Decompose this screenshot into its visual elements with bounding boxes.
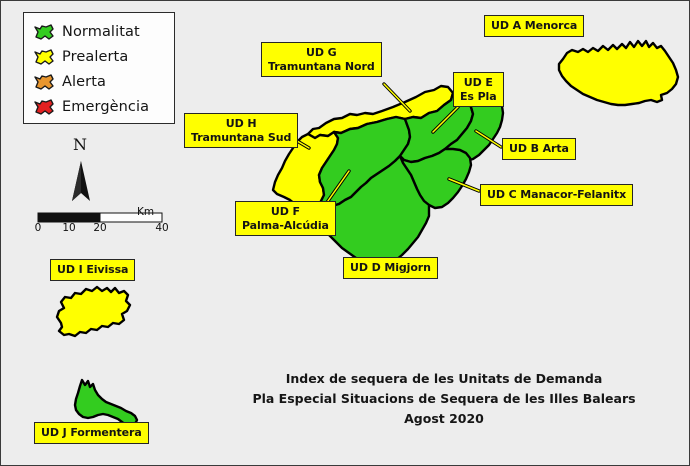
scale-tick-20: 20 bbox=[93, 222, 106, 234]
legend-item-prealerta[interactable]: Prealerta bbox=[32, 44, 174, 69]
label-text-tramuntana-sud-2: Tramuntana Sud bbox=[191, 131, 291, 144]
label-ud-b-arta[interactable]: UD B Arta bbox=[502, 138, 576, 160]
legend-swatch-normalitat bbox=[32, 23, 56, 41]
legend-box: Normalitat Prealerta Alerta Emergència bbox=[23, 12, 175, 124]
legend-swatch-alerta bbox=[32, 73, 56, 91]
legend-label-prealerta: Prealerta bbox=[62, 49, 128, 65]
label-text-palma-1: UD F bbox=[271, 205, 300, 218]
label-text-tramuntana-nord-2: Tramuntana Nord bbox=[268, 60, 375, 73]
north-arrow-label: N bbox=[73, 135, 87, 154]
label-ud-a-menorca[interactable]: UD A Menorca bbox=[484, 15, 584, 37]
label-text-es-pla-1: UD E bbox=[464, 76, 493, 89]
label-ud-e-es-pla[interactable]: UD E Es Pla bbox=[453, 72, 504, 107]
label-text-tramuntana-nord-1: UD G bbox=[306, 46, 337, 59]
label-ud-h-tramuntana-sud[interactable]: UD H Tramuntana Sud bbox=[184, 113, 298, 148]
region-ud-j-formentera[interactable] bbox=[75, 380, 137, 426]
label-text-menorca: UD A Menorca bbox=[491, 19, 577, 32]
label-ud-j-formentera[interactable]: UD J Formentera bbox=[34, 422, 149, 444]
label-ud-g-tramuntana-nord[interactable]: UD G Tramuntana Nord bbox=[261, 42, 382, 77]
label-text-eivissa: UD I Eivissa bbox=[57, 263, 128, 276]
region-ud-a-menorca[interactable] bbox=[559, 41, 678, 105]
legend-label-normalitat: Normalitat bbox=[62, 24, 140, 40]
map-title-line-2: Pla Especial Situacions de Sequera de le… bbox=[239, 389, 649, 409]
scale-tick-0: 0 bbox=[35, 222, 42, 234]
label-text-arta: UD B Arta bbox=[509, 142, 569, 155]
legend-swatch-prealerta bbox=[32, 48, 56, 66]
region-ud-i-eivissa[interactable] bbox=[57, 287, 130, 336]
label-text-es-pla-2: Es Pla bbox=[460, 90, 497, 103]
map-title-line-1: Index de sequera de les Unitats de Deman… bbox=[239, 369, 649, 389]
label-text-manacor: UD C Manacor-Felanitx bbox=[487, 188, 626, 201]
label-text-formentera: UD J Formentera bbox=[41, 426, 142, 439]
scale-tick-40: 40 bbox=[155, 222, 168, 234]
label-text-tramuntana-sud-1: UD H bbox=[226, 117, 257, 130]
label-text-migjorn: UD D Migjorn bbox=[350, 261, 431, 274]
label-ud-d-migjorn[interactable]: UD D Migjorn bbox=[343, 257, 438, 279]
legend-swatch-emergencia bbox=[32, 98, 56, 116]
label-ud-f-palma-alcudia[interactable]: UD F Palma-Alcúdia bbox=[235, 201, 336, 236]
map-title-line-3: Agost 2020 bbox=[239, 409, 649, 429]
label-ud-i-eivissa[interactable]: UD I Eivissa bbox=[50, 259, 135, 281]
legend-item-alerta[interactable]: Alerta bbox=[32, 69, 174, 94]
legend-label-emergencia: Emergència bbox=[62, 99, 149, 115]
legend-item-normalitat[interactable]: Normalitat bbox=[32, 19, 174, 44]
scale-bar-unit: Km bbox=[137, 206, 154, 218]
legend-item-emergencia[interactable]: Emergència bbox=[32, 94, 174, 119]
legend-label-alerta: Alerta bbox=[62, 74, 106, 90]
map-figure: Normalitat Prealerta Alerta Emergència N… bbox=[0, 0, 690, 466]
scale-bar: Km 0 10 20 40 bbox=[35, 207, 165, 239]
map-title-block: Index de sequera de les Unitats de Deman… bbox=[239, 369, 649, 429]
label-text-palma-2: Palma-Alcúdia bbox=[242, 219, 329, 232]
scale-tick-10: 10 bbox=[62, 222, 75, 234]
label-ud-c-manacor-felanitx[interactable]: UD C Manacor-Felanitx bbox=[480, 184, 633, 206]
north-arrow-glyph bbox=[72, 161, 90, 201]
